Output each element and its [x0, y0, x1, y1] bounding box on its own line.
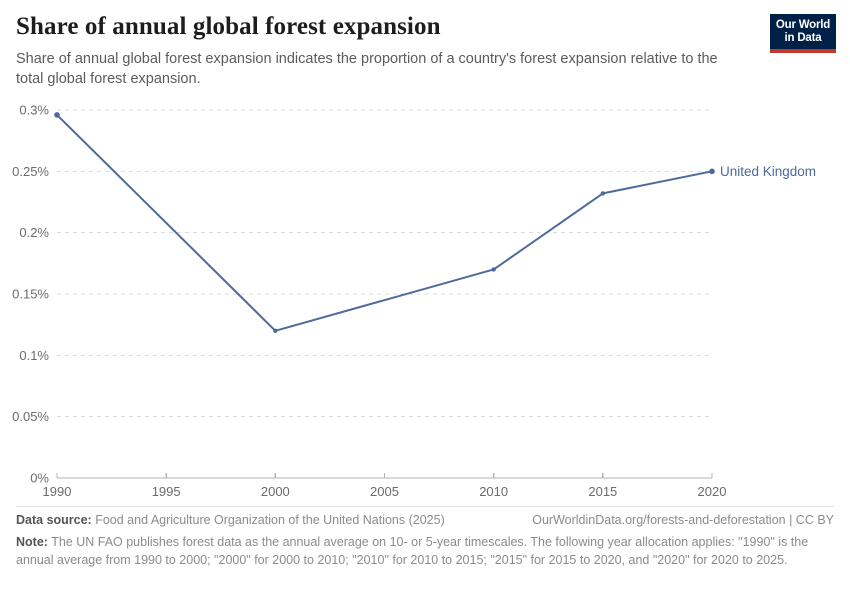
footer-divider	[16, 506, 834, 507]
chart-subtitle: Share of annual global forest expansion …	[16, 50, 742, 89]
y-axis-labels-group: 0%0.05%0.1%0.15%0.2%0.25%0.3%	[12, 103, 49, 486]
chart-footer: Data source: Food and Agriculture Organi…	[16, 512, 836, 569]
x-axis-tick-label: 1995	[152, 484, 181, 499]
data-point-marker[interactable]	[601, 191, 605, 195]
data-source-text: Food and Agriculture Organization of the…	[95, 513, 445, 527]
line-chart-svg: 0%0.05%0.1%0.15%0.2%0.25%0.3% 1990199520…	[0, 0, 850, 600]
chart-container: Share of annual global forest expansion …	[0, 0, 850, 600]
chart-header: Share of annual global forest expansion …	[16, 12, 756, 89]
x-axis-labels-group: 1990199520002005201020152020	[43, 484, 727, 499]
x-axis-tick-label: 2005	[370, 484, 399, 499]
x-axis-tick-label: 2010	[479, 484, 508, 499]
y-axis-tick-label: 0.05%	[12, 409, 49, 424]
data-source: Data source: Food and Agriculture Organi…	[16, 512, 445, 529]
note-label: Note:	[16, 535, 48, 549]
footer-source-row: Data source: Food and Agriculture Organi…	[16, 512, 834, 529]
y-axis-tick-label: 0.2%	[19, 225, 49, 240]
x-axis-tick-label: 2020	[698, 484, 727, 499]
logo-line-1: Our World	[774, 19, 832, 32]
data-point-marker[interactable]	[491, 267, 495, 271]
y-axis-tick-label: 0%	[30, 471, 49, 486]
data-point-marker[interactable]	[709, 169, 715, 175]
plot-area: 0%0.05%0.1%0.15%0.2%0.25%0.3% 1990199520…	[0, 0, 850, 600]
data-point-marker[interactable]	[54, 112, 60, 118]
x-axis-group	[57, 473, 712, 478]
series-group	[54, 112, 715, 333]
chart-note: Note: The UN FAO publishes forest data a…	[16, 534, 834, 569]
logo-line-2: in Data	[774, 32, 832, 45]
owid-logo[interactable]: Our World in Data	[770, 14, 836, 53]
x-axis-tick-label: 2000	[261, 484, 290, 499]
x-axis-tick-label: 1990	[43, 484, 72, 499]
series-label-group: United Kingdom	[720, 164, 816, 179]
series-label-united-kingdom[interactable]: United Kingdom	[720, 164, 816, 179]
series-line-united-kingdom[interactable]	[57, 115, 712, 331]
y-axis-tick-label: 0.1%	[19, 348, 49, 363]
data-point-marker[interactable]	[273, 329, 277, 333]
y-axis-tick-label: 0.3%	[19, 103, 49, 118]
gridlines-group	[57, 110, 712, 417]
x-axis-tick-label: 2015	[588, 484, 617, 499]
footer-link[interactable]: OurWorldinData.org/forests-and-deforesta…	[532, 512, 834, 529]
data-source-label: Data source:	[16, 513, 92, 527]
y-axis-tick-label: 0.15%	[12, 287, 49, 302]
y-axis-tick-label: 0.25%	[12, 164, 49, 179]
page-title: Share of annual global forest expansion	[16, 12, 756, 42]
note-text: The UN FAO publishes forest data as the …	[16, 535, 808, 567]
